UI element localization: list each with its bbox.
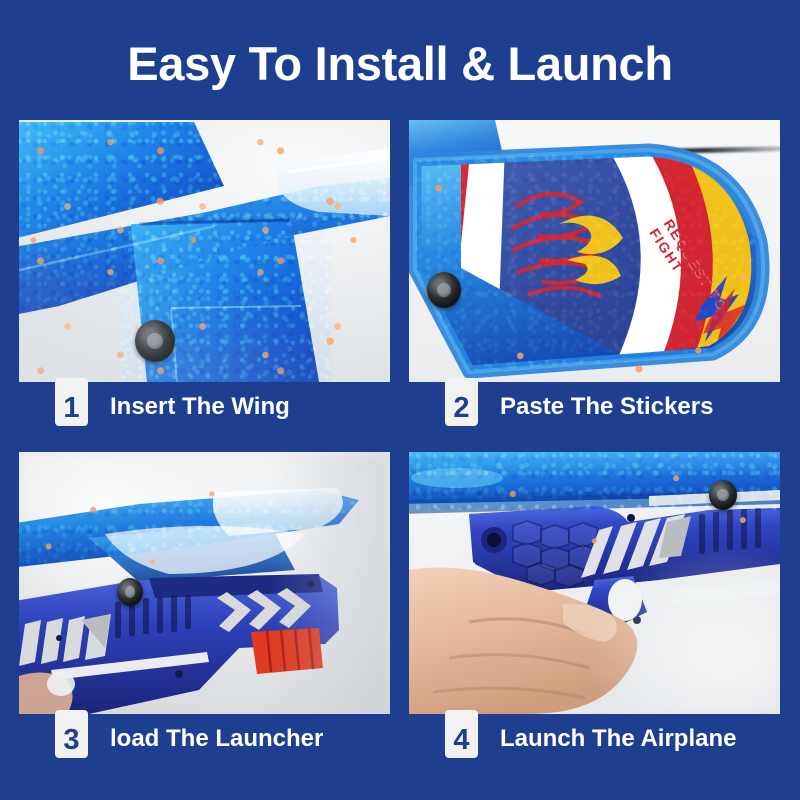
step-photo-2: REQUEST TO FIGHT xyxy=(409,120,780,382)
foam-speckle-dots xyxy=(409,120,780,382)
step-card-2[interactable]: REQUEST TO FIGHT 2 Paste The Stickers xyxy=(409,120,780,382)
step-photo-4 xyxy=(409,452,780,714)
step-photo-3 xyxy=(19,452,390,714)
steps-grid: 1 Insert The Wing xyxy=(19,120,780,715)
step-caption-4: Launch The Airplane xyxy=(500,724,736,754)
step-card-4[interactable]: 4 Launch The Airplane xyxy=(409,452,780,714)
step-number-badge-2: 2 xyxy=(445,378,478,426)
step-caption-1: Insert The Wing xyxy=(110,392,290,422)
nose-wheel xyxy=(427,272,461,308)
step-number-badge-4: 4 xyxy=(445,710,478,758)
step-number-badge-1: 1 xyxy=(55,378,88,426)
step-number-badge-3: 3 xyxy=(55,710,88,758)
step-caption-3: load The Launcher xyxy=(110,724,323,754)
step-card-3[interactable]: 3 load The Launcher xyxy=(19,452,390,714)
step-caption-2: Paste The Stickers xyxy=(500,392,713,422)
promo-page: Easy To Install & Launch xyxy=(0,0,800,800)
page-title: Easy To Install & Launch xyxy=(0,36,800,92)
step-card-1[interactable]: 1 Insert The Wing xyxy=(19,120,390,382)
step-photo-1 xyxy=(19,120,390,382)
